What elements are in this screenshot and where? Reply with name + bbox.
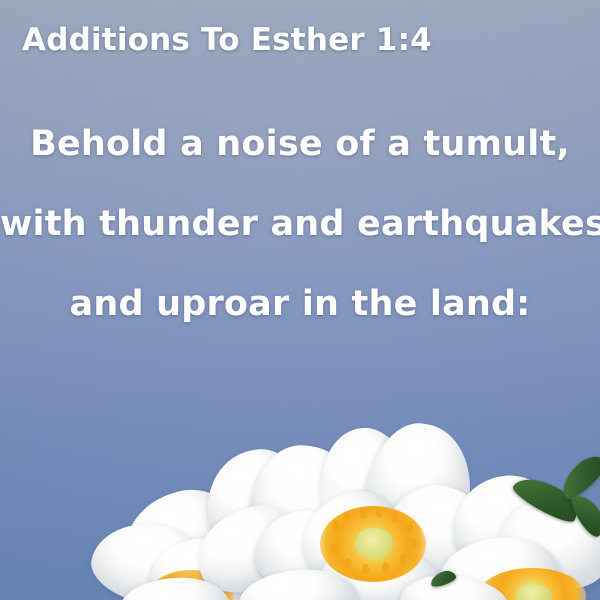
verse-text: Behold a noise of a tumult, with thunder… — [0, 104, 600, 344]
flower-stamen — [406, 522, 413, 533]
flower-stamen — [376, 508, 382, 518]
flower-stamen — [344, 558, 351, 569]
petal-highlight — [260, 480, 340, 520]
flower-stamen — [392, 512, 398, 523]
flower-stamen — [410, 538, 417, 549]
flower-core — [355, 528, 393, 558]
flower-stamen — [362, 564, 369, 575]
scripture-reference: Additions To Esther 1:4 — [22, 22, 582, 58]
flower-stamen — [332, 520, 339, 531]
flower-stamen — [382, 562, 389, 573]
verse-line: and uproar in the land: — [0, 264, 600, 344]
flower-stamen — [400, 554, 407, 565]
flower-stamen — [344, 512, 350, 522]
petal-highlight — [470, 520, 540, 556]
flower-cluster — [0, 420, 600, 600]
verse-line: with thunder and earthquakes — [0, 184, 600, 264]
flower-stamen — [330, 544, 337, 555]
verse-line: Behold a noise of a tumult, — [0, 104, 600, 184]
petal-highlight — [150, 540, 220, 574]
flower-stamen — [360, 508, 366, 519]
verse-image-canvas: Additions To Esther 1:4 Behold a noise o… — [0, 0, 600, 600]
